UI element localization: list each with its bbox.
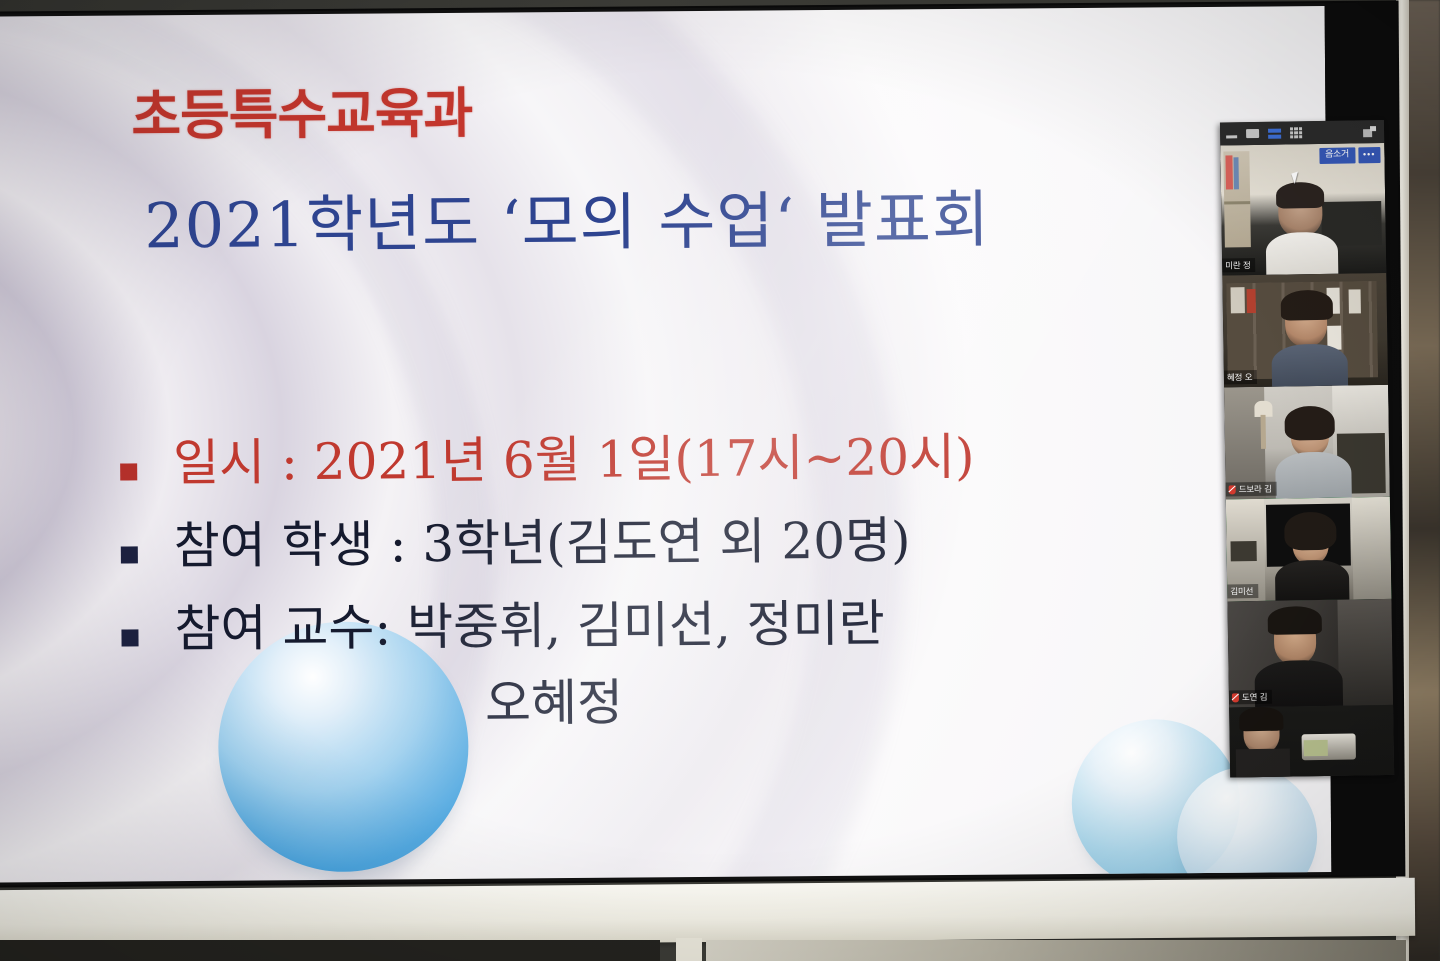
mute-icon (1229, 485, 1236, 494)
more-options-button[interactable]: ••• (1358, 147, 1381, 163)
participant-name: 미란 정 (1225, 259, 1251, 271)
participant-name: 도연 김 (1242, 691, 1268, 703)
bullet-text-wrapper: 참여 교수: 박중휘, 김미선, 정미란 오혜정 (174, 594, 885, 738)
participant-torso (1271, 344, 1348, 388)
participant-tile[interactable]: 음소거 ••• 미란 정 (1220, 143, 1386, 276)
participant-torso (1275, 452, 1352, 500)
bullet-item-professors: 참여 교수: 박중휘, 김미선, 정미란 오혜정 (121, 591, 1242, 738)
participant-torso (1275, 560, 1350, 602)
participant-name-badge: 도연 김 (1229, 690, 1273, 705)
single-view-icon[interactable] (1246, 129, 1259, 138)
participant-tile-list: 음소거 ••• 미란 정 (1220, 143, 1394, 777)
bullet-marker-icon (120, 463, 137, 480)
bullet-marker-icon (121, 546, 138, 563)
video-panel-toolbar[interactable] (1220, 120, 1384, 146)
participant-name-badge: 혜정 오 (1224, 370, 1258, 385)
bullet-text: 일시 : 2021년 6월 1일(17시~20시) (173, 427, 975, 494)
bullet-text: 참여 교수: 박중휘, 김미선, 정미란 (174, 595, 885, 659)
bullet-marker-icon (121, 629, 138, 646)
participant-name: 혜정 오 (1227, 371, 1253, 383)
video-panel-actions[interactable]: 음소거 ••• (1319, 147, 1381, 164)
participant-name: 드보라 김 (1239, 483, 1272, 496)
photo-scene: 초등특수교육과 2021학년도 ‘모의 수업‘ 발표회 일시 : 2021년 6… (0, 0, 1440, 961)
participant-tile[interactable] (1229, 705, 1394, 778)
presentation-slide: 초등특수교육과 2021학년도 ‘모의 수업‘ 발표회 일시 : 2021년 6… (0, 6, 1331, 882)
under-shelf-shadow (0, 940, 660, 961)
slide-kicker: 초등특수교육과 (131, 69, 472, 151)
display-screen: 초등특수교육과 2021학년도 ‘모의 수업‘ 발표회 일시 : 2021년 6… (0, 2, 1403, 885)
participant-video (1229, 705, 1394, 778)
bullet-item-students: 참여 학생 : 3학년(김도연 외 20명) (121, 508, 1241, 578)
split-view-icon[interactable] (1268, 128, 1281, 138)
gallery-view-icon[interactable] (1290, 127, 1302, 139)
bullet-text-continuation: 오혜정 (175, 671, 886, 738)
slide-headline: 2021학년도 ‘모의 수업‘ 발표회 (144, 169, 990, 266)
participant-tile[interactable]: 드보라 김 (1224, 385, 1390, 500)
participant-name-badge: 김미선 (1227, 584, 1258, 598)
participant-tile[interactable]: 혜정 오 (1222, 273, 1388, 388)
bullet-text: 참여 학생 : 3학년(김도연 외 20명) (174, 510, 911, 577)
mute-icon (1232, 693, 1239, 702)
video-conference-panel[interactable]: 음소거 ••• 미란 정 (1220, 120, 1394, 777)
participant-tile[interactable]: 도연 김 (1227, 599, 1393, 708)
popout-window-icon[interactable] (1363, 126, 1376, 137)
participant-tile[interactable]: 김미선 (1226, 497, 1392, 602)
mute-button[interactable]: 음소거 (1319, 147, 1355, 164)
participant-name-badge: 미란 정 (1222, 258, 1256, 273)
under-shelf-right (706, 940, 1406, 961)
shelf-leg (676, 938, 702, 961)
decorative-bubble-small (1177, 766, 1318, 882)
slide-bullet-list: 일시 : 2021년 6월 1일(17시~20시) 참여 학생 : 3학년(김도… (120, 425, 1243, 760)
participant-torso (1266, 232, 1339, 276)
participant-name: 김미선 (1230, 585, 1253, 597)
participant-name-badge: 드보라 김 (1226, 482, 1277, 497)
minimize-icon[interactable] (1226, 135, 1237, 138)
bullet-item-schedule: 일시 : 2021년 6월 1일(17시~20시) (120, 425, 1240, 495)
